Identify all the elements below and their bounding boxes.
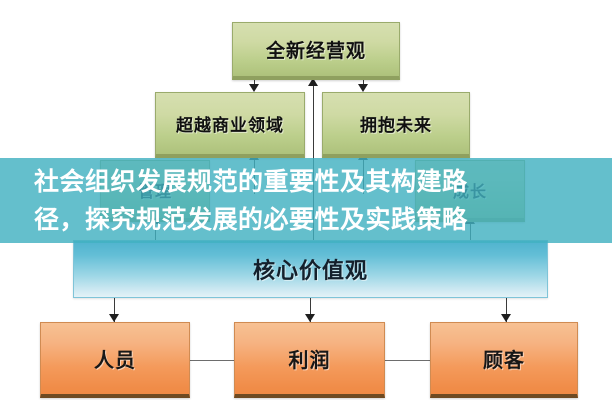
title-overlay-band: 社会组织发展规范的重要性及其构建路 径，探究规范发展的必要性及实践策略: [0, 158, 612, 243]
vision-label: 全新经营观: [266, 36, 366, 63]
pillar-box-left[interactable]: 超越商业领域: [155, 92, 305, 158]
outcome-box-people[interactable]: 人员: [40, 322, 190, 398]
core-value-box[interactable]: 核心价值观: [73, 240, 548, 298]
vision-box[interactable]: 全新经营观: [232, 22, 400, 80]
core-value-label: 核心价值观: [253, 253, 368, 285]
pillar-left-label: 超越商业领域: [176, 111, 284, 136]
outcome-box-customer[interactable]: 顾客: [430, 322, 578, 398]
connector-people-to-profit: [190, 360, 235, 361]
pillar-box-right[interactable]: 拥抱未来: [322, 92, 470, 158]
outcome-profit-label: 利润: [289, 344, 331, 373]
pillar-right-label: 拥抱未来: [360, 111, 432, 136]
arrow-down-people: [109, 314, 119, 322]
overlay-title-line-1: 社会组织发展规范的重要性及其构建路: [34, 163, 578, 201]
arrow-down-profit: [305, 314, 315, 322]
arrow-down-pillar-left: [249, 84, 259, 92]
overlay-title-line-2: 径，探究规范发展的必要性及实践策略: [34, 201, 578, 239]
outcome-customer-label: 顾客: [483, 344, 525, 373]
arrow-down-customer: [501, 314, 511, 322]
connector-profit-to-customer: [385, 360, 431, 361]
outcome-people-label: 人员: [94, 344, 136, 373]
outcome-box-profit[interactable]: 利润: [234, 322, 385, 398]
diagram-canvas: 管理 成长 全新经营观 超越商业领域 拥抱未来 核心价值观 人员 利润 顾客 社…: [0, 0, 612, 400]
arrow-down-pillar-right: [358, 84, 368, 92]
